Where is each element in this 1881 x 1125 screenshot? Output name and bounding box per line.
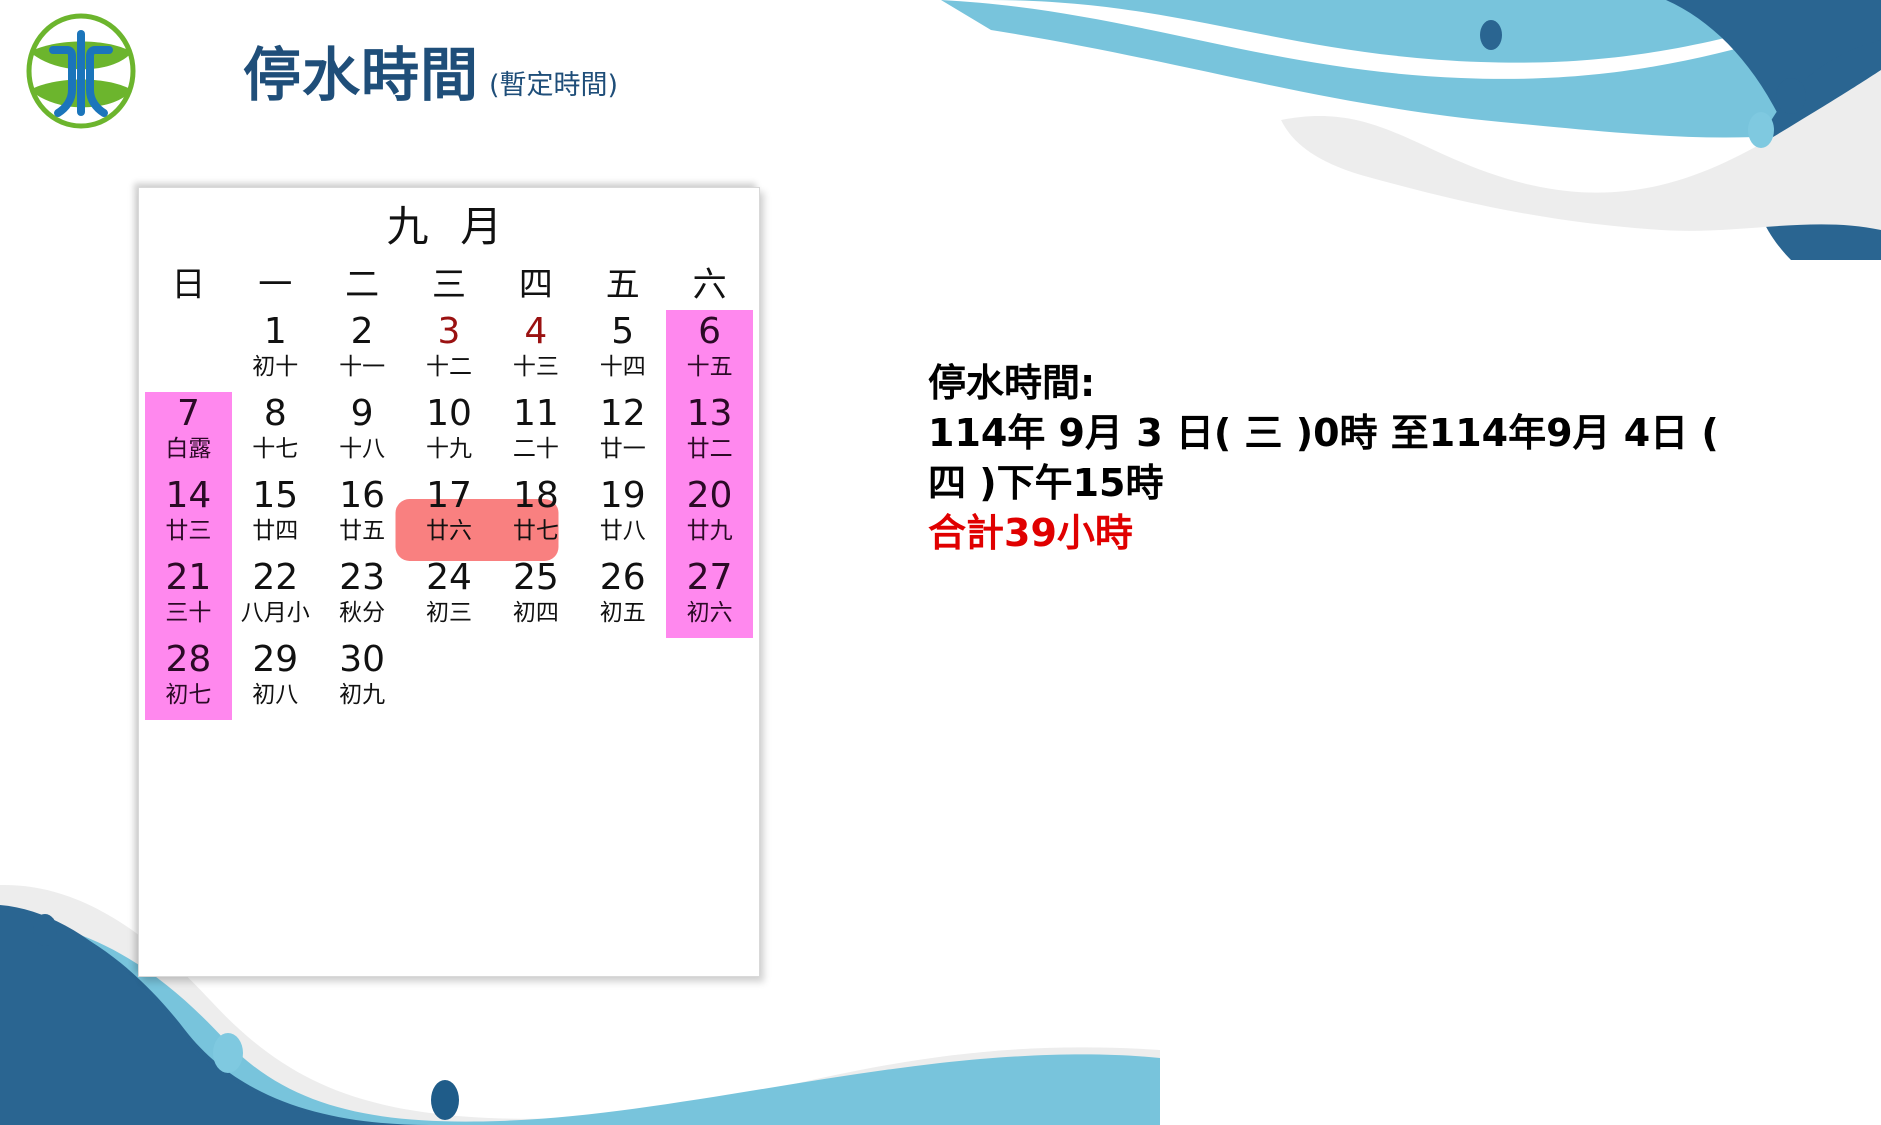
calendar-lunar-label: 廿五 xyxy=(319,518,406,556)
calendar-day-10[interactable]: 10十九 xyxy=(406,392,493,474)
calendar-lunar-label: 十八 xyxy=(319,436,406,474)
calendar-day-30[interactable]: 30初九 xyxy=(319,638,406,720)
calendar-day-13[interactable]: 13廿二 xyxy=(666,392,753,474)
calendar-lunar-label: 十二 xyxy=(406,354,493,392)
calendar-day-8[interactable]: 8十七 xyxy=(232,392,319,474)
decor-dot-4 xyxy=(33,914,57,946)
calendar-day-number xyxy=(579,638,666,682)
calendar-day-18[interactable]: 18廿七 xyxy=(492,474,579,556)
calendar-lunar-label: 十三 xyxy=(492,354,579,392)
weekday-header-6: 六 xyxy=(666,264,753,310)
calendar-day-21[interactable]: 21三十 xyxy=(145,556,232,638)
calendar-day-number: 23 xyxy=(319,556,406,600)
decor-dot-2 xyxy=(1776,78,1806,114)
calendar-lunar-label xyxy=(579,682,666,720)
outage-label: 停水時間: xyxy=(928,358,1738,408)
calendar-day-number: 12 xyxy=(579,392,666,436)
calendar-day-number xyxy=(666,638,753,682)
calendar-grid: 日一二三四五六 1初十2十一3十二4十三5十四6十五7白露8十七9十八10十九1… xyxy=(139,264,759,720)
slide-canvas: 停水時間 (暫定時間) 九 月 日一二三四五六 1初十2十一3十二4十三5十四6… xyxy=(0,0,1881,1125)
taiwan-water-corporation-logo xyxy=(20,12,142,130)
calendar-lunar-label: 廿一 xyxy=(579,436,666,474)
calendar-day-9[interactable]: 9十八 xyxy=(319,392,406,474)
calendar-day-26[interactable]: 26初五 xyxy=(579,556,666,638)
calendar-day-number: 28 xyxy=(145,638,232,682)
page-title-main: 停水時間 xyxy=(243,46,479,104)
calendar-day-24[interactable]: 24初三 xyxy=(406,556,493,638)
calendar-day-23[interactable]: 23秋分 xyxy=(319,556,406,638)
calendar-day-number: 8 xyxy=(232,392,319,436)
weekday-header-0: 日 xyxy=(145,264,232,310)
decor-dot-3 xyxy=(1748,112,1774,148)
calendar-day-11[interactable]: 11二十 xyxy=(492,392,579,474)
calendar-day-14[interactable]: 14廿三 xyxy=(145,474,232,556)
calendar-day-28[interactable]: 28初七 xyxy=(145,638,232,720)
calendar-lunar-label: 廿七 xyxy=(492,518,579,556)
calendar-day-25[interactable]: 25初四 xyxy=(492,556,579,638)
calendar-day-number: 27 xyxy=(666,556,753,600)
calendar-day-number: 17 xyxy=(406,474,493,518)
calendar-day-number: 6 xyxy=(666,310,753,354)
calendar-lunar-label: 初三 xyxy=(406,600,493,638)
calendar-day-number: 13 xyxy=(666,392,753,436)
outage-range: 114年 9月 3 日( 三 )0時 至114年9月 4日 ( 四 )下午15時 xyxy=(928,408,1738,508)
calendar-day-2[interactable]: 2十一 xyxy=(319,310,406,392)
calendar-day-number: 29 xyxy=(232,638,319,682)
calendar-day-number: 30 xyxy=(319,638,406,682)
calendar-lunar-label: 初七 xyxy=(145,682,232,720)
top-right-wave-decoration xyxy=(661,0,1881,260)
calendar-day-17[interactable]: 17廿六 xyxy=(406,474,493,556)
calendar-lunar-label: 十九 xyxy=(406,436,493,474)
calendar-day-29[interactable]: 29初八 xyxy=(232,638,319,720)
calendar-day-22[interactable]: 22八月小 xyxy=(232,556,319,638)
calendar-day-number: 7 xyxy=(145,392,232,436)
page-title-sub: (暫定時間) xyxy=(489,72,618,99)
calendar-day-6[interactable]: 6十五 xyxy=(666,310,753,392)
calendar-day-number: 4 xyxy=(492,310,579,354)
calendar-day-19[interactable]: 19廿八 xyxy=(579,474,666,556)
outage-info-panel: 停水時間: 114年 9月 3 日( 三 )0時 至114年9月 4日 ( 四 … xyxy=(928,358,1738,559)
calendar-lunar-label xyxy=(666,682,753,720)
calendar-lunar-label: 八月小 xyxy=(232,600,319,638)
calendar-lunar-label: 初九 xyxy=(319,682,406,720)
calendar-day-number: 5 xyxy=(579,310,666,354)
calendar-day-12[interactable]: 12廿一 xyxy=(579,392,666,474)
weekday-header-4: 四 xyxy=(492,264,579,310)
weekday-header-2: 二 xyxy=(319,264,406,310)
calendar-card: 九 月 日一二三四五六 1初十2十一3十二4十三5十四6十五7白露8十七9十八1… xyxy=(138,187,760,977)
calendar-lunar-label: 廿六 xyxy=(406,518,493,556)
calendar-lunar-label: 廿九 xyxy=(666,518,753,556)
calendar-lunar-label: 初五 xyxy=(579,600,666,638)
page-title: 停水時間 (暫定時間) xyxy=(243,46,618,104)
calendar-lunar-label: 十七 xyxy=(232,436,319,474)
calendar-day-number xyxy=(406,638,493,682)
calendar-day-number: 10 xyxy=(406,392,493,436)
calendar-lunar-label: 二十 xyxy=(492,436,579,474)
decor-dot-5 xyxy=(213,1033,243,1073)
calendar-day-number: 14 xyxy=(145,474,232,518)
calendar-day-number: 24 xyxy=(406,556,493,600)
calendar-day-4[interactable]: 4十三 xyxy=(492,310,579,392)
calendar-day-7[interactable]: 7白露 xyxy=(145,392,232,474)
calendar-lunar-label: 廿三 xyxy=(145,518,232,556)
calendar-lunar-label xyxy=(492,682,579,720)
weekday-header-3: 三 xyxy=(406,264,493,310)
calendar-day-number: 16 xyxy=(319,474,406,518)
decor-dot-1 xyxy=(1480,20,1502,50)
calendar-day-empty xyxy=(145,310,232,392)
weekday-header-5: 五 xyxy=(579,264,666,310)
calendar-lunar-label: 初四 xyxy=(492,600,579,638)
calendar-lunar-label: 十一 xyxy=(319,354,406,392)
calendar-day-number: 11 xyxy=(492,392,579,436)
calendar-day-number: 20 xyxy=(666,474,753,518)
calendar-day-3[interactable]: 3十二 xyxy=(406,310,493,392)
calendar-day-number: 26 xyxy=(579,556,666,600)
calendar-day-number: 22 xyxy=(232,556,319,600)
calendar-day-15[interactable]: 15廿四 xyxy=(232,474,319,556)
calendar-day-number: 19 xyxy=(579,474,666,518)
decor-dot-6 xyxy=(431,1080,459,1120)
calendar-day-number: 21 xyxy=(145,556,232,600)
calendar-day-number xyxy=(145,310,232,354)
calendar-lunar-label: 廿二 xyxy=(666,436,753,474)
calendar-lunar-label: 十四 xyxy=(579,354,666,392)
calendar-day-empty xyxy=(666,638,753,720)
calendar-day-empty xyxy=(406,638,493,720)
calendar-lunar-label xyxy=(145,354,232,392)
calendar-lunar-label: 秋分 xyxy=(319,600,406,638)
calendar-lunar-label: 廿八 xyxy=(579,518,666,556)
calendar-day-number: 3 xyxy=(406,310,493,354)
calendar-lunar-label: 十五 xyxy=(666,354,753,392)
calendar-day-20[interactable]: 20廿九 xyxy=(666,474,753,556)
calendar-day-number: 1 xyxy=(232,310,319,354)
calendar-day-number: 2 xyxy=(319,310,406,354)
calendar-day-number: 25 xyxy=(492,556,579,600)
calendar-lunar-label: 初六 xyxy=(666,600,753,638)
calendar-day-16[interactable]: 16廿五 xyxy=(319,474,406,556)
calendar-day-empty xyxy=(579,638,666,720)
calendar-lunar-label: 初十 xyxy=(232,354,319,392)
calendar-lunar-label xyxy=(406,682,493,720)
calendar-day-number: 18 xyxy=(492,474,579,518)
calendar-lunar-label: 白露 xyxy=(145,436,232,474)
weekday-header-1: 一 xyxy=(232,264,319,310)
calendar-lunar-label: 初八 xyxy=(232,682,319,720)
calendar-lunar-label: 廿四 xyxy=(232,518,319,556)
calendar-day-5[interactable]: 5十四 xyxy=(579,310,666,392)
calendar-day-number: 9 xyxy=(319,392,406,436)
calendar-day-1[interactable]: 1初十 xyxy=(232,310,319,392)
calendar-day-empty xyxy=(492,638,579,720)
calendar-lunar-label: 三十 xyxy=(145,600,232,638)
calendar-day-number: 15 xyxy=(232,474,319,518)
calendar-day-number xyxy=(492,638,579,682)
outage-total-hours: 合計39小時 xyxy=(928,508,1738,558)
calendar-day-27[interactable]: 27初六 xyxy=(666,556,753,638)
calendar-month-label: 九 月 xyxy=(139,188,759,248)
